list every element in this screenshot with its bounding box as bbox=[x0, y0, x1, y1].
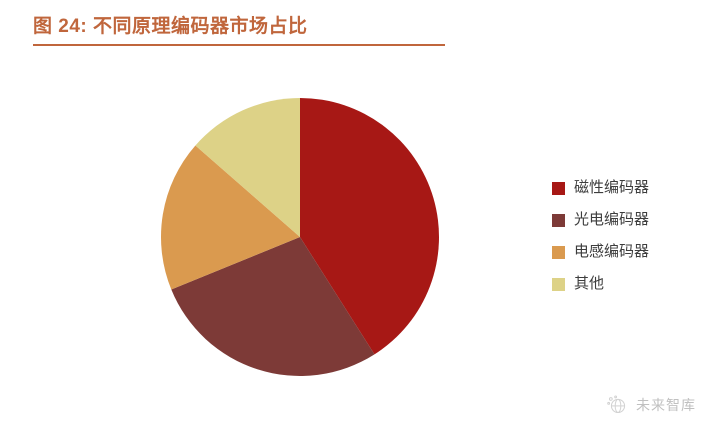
pie-slice-group bbox=[161, 98, 439, 376]
legend-item-label: 光电编码器 bbox=[574, 211, 649, 229]
legend-item[interactable]: 磁性编码器 bbox=[552, 172, 702, 204]
legend-swatch-icon bbox=[552, 246, 565, 259]
legend-item-label: 电感编码器 bbox=[574, 243, 649, 261]
pie-chart-plot bbox=[160, 97, 440, 377]
pie-chart-figure: 磁性编码器 光电编码器 电感编码器 其他 bbox=[0, 52, 712, 430]
pie-chart-svg bbox=[160, 97, 440, 377]
page-title: 图 24: 不同原理编码器市场占比 bbox=[33, 14, 678, 40]
globe-icon bbox=[607, 394, 629, 416]
title-underline-divider bbox=[33, 44, 445, 46]
legend-swatch-icon bbox=[552, 278, 565, 291]
legend-swatch-icon bbox=[552, 214, 565, 227]
legend-item-label: 磁性编码器 bbox=[574, 179, 649, 197]
legend-swatch-icon bbox=[552, 182, 565, 195]
chart-header: 图 24: 不同原理编码器市场占比 bbox=[33, 14, 678, 46]
chart-legend: 磁性编码器 光电编码器 电感编码器 其他 bbox=[552, 172, 702, 300]
watermark: 未来智库 bbox=[607, 394, 696, 416]
legend-item-label: 其他 bbox=[574, 275, 604, 293]
watermark-label: 未来智库 bbox=[636, 395, 696, 415]
legend-item[interactable]: 电感编码器 bbox=[552, 236, 702, 268]
legend-item[interactable]: 光电编码器 bbox=[552, 204, 702, 236]
legend-item[interactable]: 其他 bbox=[552, 268, 702, 300]
